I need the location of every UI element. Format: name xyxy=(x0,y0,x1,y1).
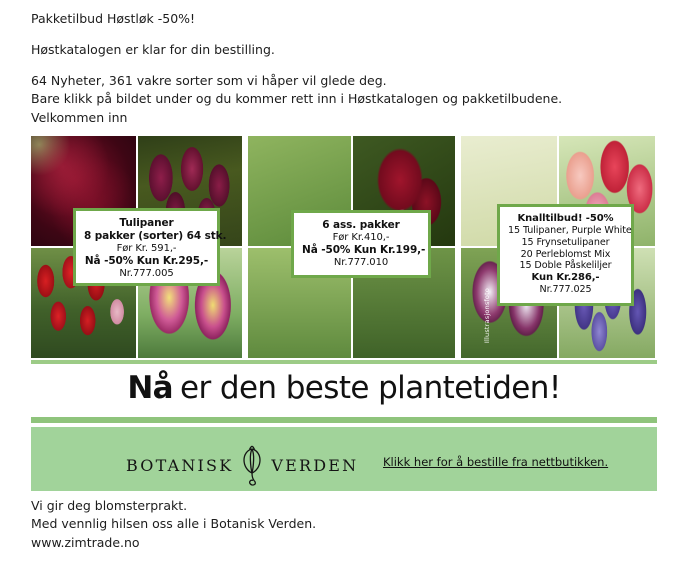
outro-line-3: www.zimtrade.no xyxy=(31,534,651,552)
outro-line-2: Med vennlig hilsen oss alle i Botanisk V… xyxy=(31,515,651,533)
catalog-line: Høstkatalogen er klar for din bestilling… xyxy=(31,41,671,59)
outro-text-block: Vi gir deg blomsterprakt. Med vennlig hi… xyxy=(31,497,651,552)
pricebox-knalltilbud: Knalltilbud! -50% 15 Tulipaner, Purple W… xyxy=(497,204,634,306)
welcome-line: Velkommen inn xyxy=(31,109,671,127)
green-divider-rule xyxy=(31,417,657,423)
outro-line-1: Vi gir deg blomsterprakt. xyxy=(31,497,651,515)
pricebox-article-no: Nr.777.025 xyxy=(508,284,623,296)
spacer xyxy=(31,59,671,72)
brand-footer-band: BOTANISK VERDEN Klikk her for å bestille… xyxy=(31,427,657,491)
pricebox-6-ass-pakker: 6 ass. pakker Før Kr.410,- Nå -50% Kun K… xyxy=(291,210,431,278)
pricebox-title: Knalltilbud! -50% xyxy=(508,213,623,225)
pricebox-article-no: Nr.777.010 xyxy=(302,257,420,269)
pricebox-old-price: Før Kr.410,- xyxy=(302,232,420,244)
click-instruction-line: Bare klikk på bildet under og du kommer … xyxy=(31,90,671,108)
news-count-line: 64 Nyheter, 361 vakre sorter som vi håpe… xyxy=(31,72,671,90)
intro-text-block: Pakketilbud Høstløk -50%! Høstkatalogen … xyxy=(31,10,671,127)
tulip-logo-icon xyxy=(237,443,267,487)
pricebox-new-price: Nå -50% Kun Kr.199,- xyxy=(302,244,420,257)
pricebox-title: 6 ass. pakker xyxy=(302,219,420,232)
pricebox-article-no: Nr.777.005 xyxy=(84,268,209,280)
pricebox-subtitle: 8 pakker (sorter) 64 stk. xyxy=(84,230,209,243)
pricebox-item-1: 15 Tulipaner, Purple White xyxy=(508,225,623,237)
headline-rest: er den beste plantetiden! xyxy=(180,370,561,406)
pricebox-new-price: Nå -50% Kun Kr.295,- xyxy=(84,255,209,268)
promo-banner-image[interactable]: Illustrasjonsfoto Tulipaner 8 pakker (so… xyxy=(31,136,657,413)
banner-headline: Nå er den beste plantetiden! xyxy=(31,364,657,412)
logo-word-right: VERDEN xyxy=(271,456,358,475)
pricebox-old-price: Før Kr. 591,- xyxy=(84,243,209,255)
spacer xyxy=(31,28,671,41)
illustration-photo-note: Illustrasjonsfoto xyxy=(483,288,493,343)
pricebox-item-3: 20 Perleblomst Mix xyxy=(508,249,623,261)
logo-word-left: BOTANISK xyxy=(126,456,233,475)
pricebox-item-2: 15 Frynsetulipaner xyxy=(508,237,623,249)
pricebox-price: Kun Kr.286,- xyxy=(508,272,623,284)
botanisk-verden-logo: BOTANISK VERDEN xyxy=(126,443,358,487)
headline-bold-word: Nå xyxy=(127,370,173,406)
subject-line: Pakketilbud Høstløk -50%! xyxy=(31,10,671,28)
shop-link[interactable]: Klikk her for å bestille fra nettbutikke… xyxy=(383,455,608,469)
pricebox-title: Tulipaner xyxy=(84,217,209,230)
pricebox-item-4: 15 Doble Påskeliljer xyxy=(508,260,623,272)
pricebox-tulipaner: Tulipaner 8 pakker (sorter) 64 stk. Før … xyxy=(73,208,220,286)
